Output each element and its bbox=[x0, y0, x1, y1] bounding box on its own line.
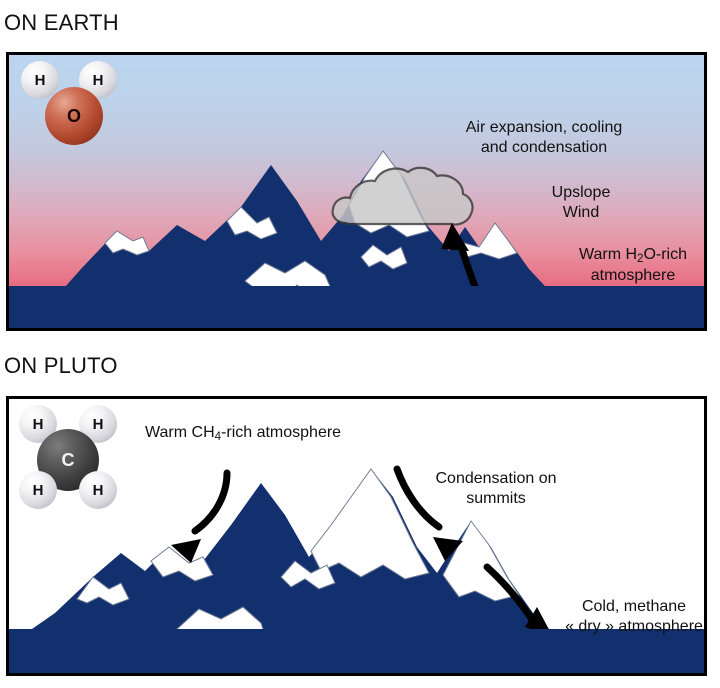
methane-molecule: H H C H H bbox=[15, 405, 125, 517]
oxygen-atom: O bbox=[45, 87, 103, 145]
label-warm-ch4-post: -rich atmosphere bbox=[221, 424, 341, 441]
label-warm-h2o-pre: Warm H bbox=[579, 246, 637, 263]
hydrogen-atom-bottom-right: H bbox=[79, 471, 117, 509]
label-upslope-line2: Wind bbox=[563, 204, 599, 221]
label-air-expansion: Air expansion, cooling and condensation bbox=[429, 118, 659, 157]
label-upslope-wind: Upslope Wind bbox=[521, 183, 641, 222]
hydrogen-atom-left: H bbox=[21, 61, 59, 99]
label-warm-ch4-pre: Warm CH bbox=[145, 424, 215, 441]
label-air-expansion-line1: Air expansion, cooling bbox=[466, 119, 623, 136]
hydrogen-atom-bottom-left: H bbox=[19, 471, 57, 509]
label-cold-methane-line1: Cold, methane bbox=[582, 598, 686, 615]
label-warm-h2o-atmosphere: Warm H2O-rich atmosphere bbox=[543, 245, 707, 286]
label-warm-h2o-line2: atmosphere bbox=[591, 267, 676, 284]
label-upslope-line1: Upslope bbox=[552, 184, 611, 201]
label-warm-h2o-post: O-rich bbox=[643, 246, 687, 263]
label-cold-dry-atmosphere: Cold, methane « dry » atmosphere bbox=[539, 597, 707, 636]
label-condensation-summits: Condensation on summits bbox=[401, 469, 591, 508]
label-cold-methane-line2: « dry » atmosphere bbox=[565, 618, 703, 635]
cloud-earth bbox=[333, 168, 473, 225]
water-molecule: H H O bbox=[21, 61, 125, 153]
panel-title-earth: ON EARTH bbox=[4, 12, 119, 34]
label-condensation-line2: summits bbox=[466, 490, 526, 507]
label-condensation-line1: Condensation on bbox=[436, 470, 557, 487]
ground-band-earth bbox=[9, 286, 704, 328]
panel-pluto: H H C H H Warm CH4-rich atmosphere Conde… bbox=[6, 396, 707, 676]
label-warm-ch4-atmosphere: Warm CH4-rich atmosphere bbox=[145, 423, 405, 444]
panel-title-pluto: ON PLUTO bbox=[4, 355, 118, 377]
panel-earth: H H O Air expansion, cooling and condens… bbox=[6, 52, 707, 331]
label-air-expansion-line2: and condensation bbox=[481, 139, 607, 156]
